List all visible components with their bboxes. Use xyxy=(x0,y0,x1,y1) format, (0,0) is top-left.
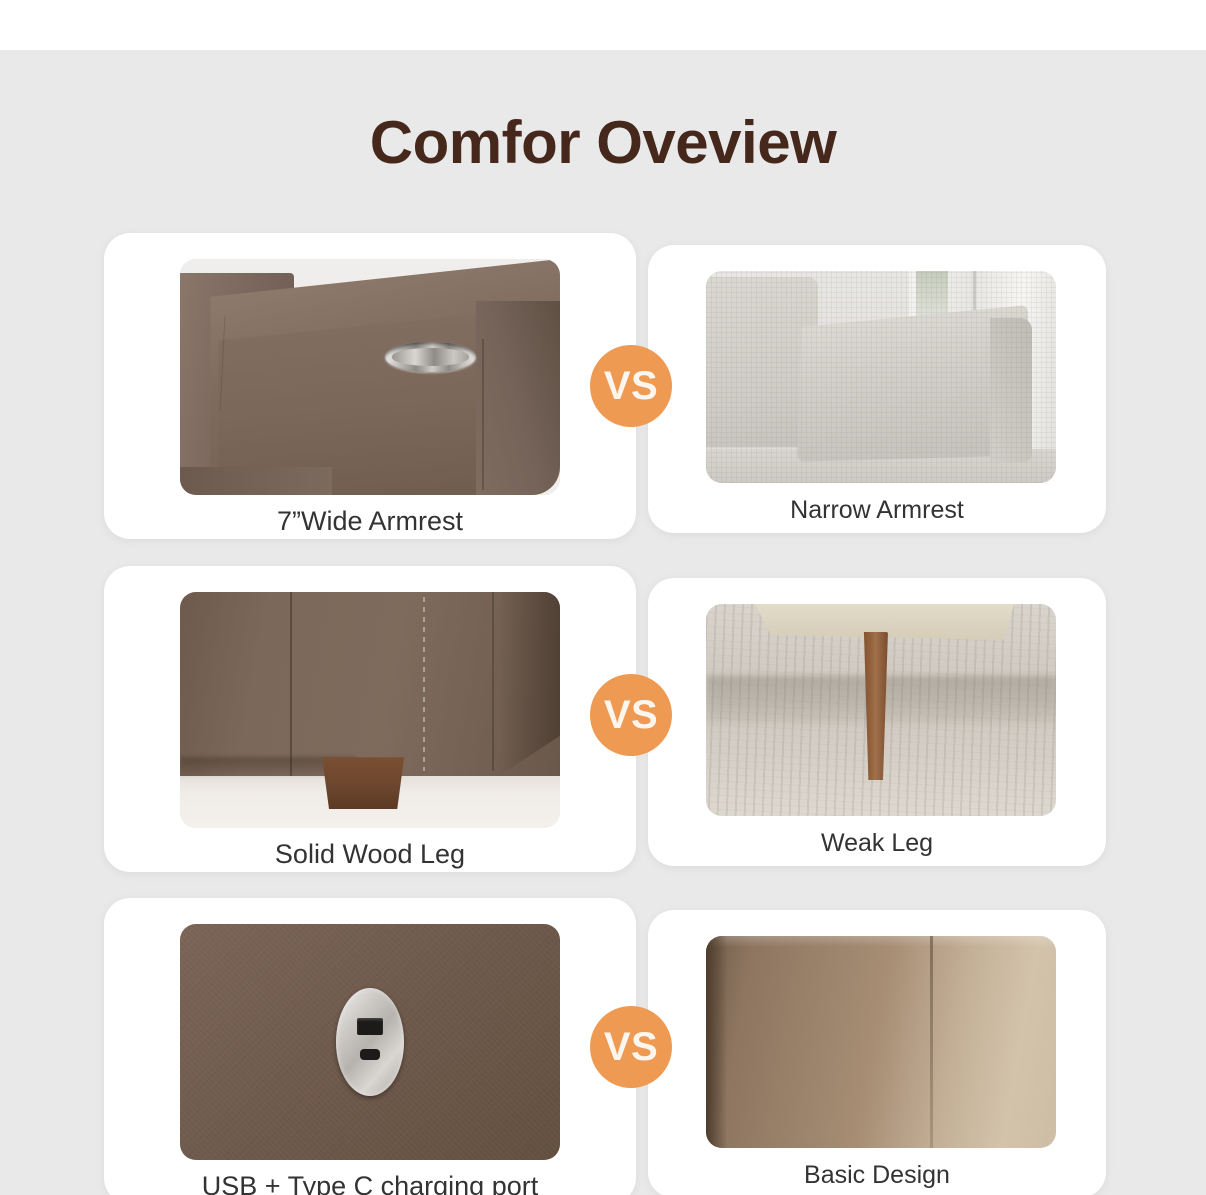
feature-card-left-charging[interactable]: USB + Type C charging port xyxy=(104,898,636,1195)
wood-leg-icon xyxy=(317,757,404,809)
cup-holder-icon xyxy=(385,342,476,373)
feature-caption-right: Basic Design xyxy=(648,1160,1106,1190)
feature-caption-left: USB + Type C charging port xyxy=(104,1170,636,1195)
feature-card-right-armrest[interactable]: Narrow Armrest xyxy=(648,245,1106,533)
narrow-gray-fabric-armrest-photo xyxy=(706,271,1056,483)
infographic-page: Comfor Oveview 7”Wide Armrest VS xyxy=(0,0,1206,1195)
feature-caption-right: Weak Leg xyxy=(648,828,1106,858)
usb-type-c-charging-port-photo xyxy=(180,924,560,1160)
solid-wood-block-leg-photo xyxy=(180,592,560,828)
comparison-row-leg: Solid Wood Leg VS Weak Leg xyxy=(0,558,1206,888)
feature-caption-right: Narrow Armrest xyxy=(648,495,1106,525)
plain-panel-basic-design-photo xyxy=(706,936,1056,1148)
feature-card-right-leg[interactable]: Weak Leg xyxy=(648,578,1106,866)
vs-badge-leg: VS xyxy=(590,674,672,756)
vs-badge-armrest: VS xyxy=(590,345,672,427)
charging-port-plate-icon xyxy=(336,988,404,1097)
feature-card-right-charging[interactable]: Basic Design xyxy=(648,910,1106,1195)
usb-a-port-icon xyxy=(357,1018,384,1035)
vs-badge-charging: VS xyxy=(590,1006,672,1088)
feature-caption-left: Solid Wood Leg xyxy=(104,838,636,870)
feature-card-left-leg[interactable]: Solid Wood Leg xyxy=(104,566,636,872)
wide-armrest-with-cup-holder-photo xyxy=(180,259,560,495)
feature-card-left-armrest[interactable]: 7”Wide Armrest xyxy=(104,233,636,539)
comparison-row-charging: USB + Type C charging port VS Basic Desi… xyxy=(0,890,1206,1195)
page-title: Comfor Oveview xyxy=(0,110,1206,176)
feature-caption-left: 7”Wide Armrest xyxy=(104,505,636,537)
thin-tapered-wood-leg-photo xyxy=(706,604,1056,816)
usb-type-c-port-icon xyxy=(360,1049,381,1060)
comparison-row-armrest: 7”Wide Armrest VS Narrow Armrest xyxy=(0,225,1206,555)
